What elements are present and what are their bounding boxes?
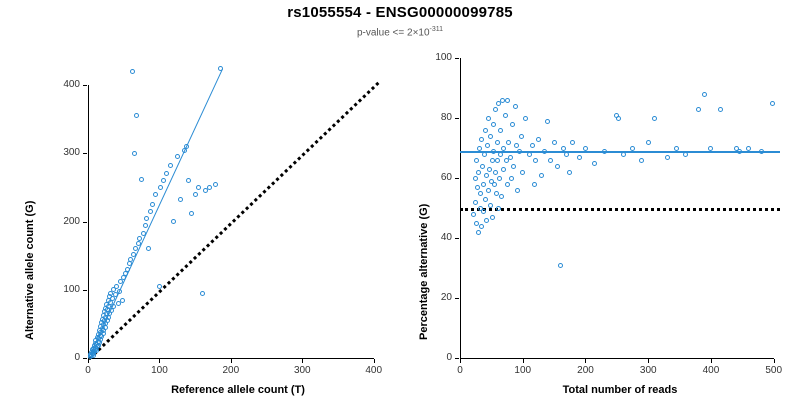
- data-point: [501, 146, 506, 151]
- y-tick: [455, 58, 459, 59]
- data-point: [602, 149, 607, 154]
- data-point: [483, 128, 488, 133]
- x-tick-label: 500: [754, 365, 794, 376]
- y-tick-label: 80: [412, 112, 452, 123]
- data-point: [759, 149, 764, 154]
- data-point: [532, 182, 537, 187]
- y-tick: [83, 153, 87, 154]
- data-point: [561, 146, 566, 151]
- x-tick-label: 300: [628, 365, 668, 376]
- page-title: rs1055554 - ENSG00000099785: [0, 4, 800, 21]
- y-tick: [83, 85, 87, 86]
- data-point: [501, 167, 506, 172]
- data-point: [484, 173, 489, 178]
- data-point: [130, 69, 135, 74]
- data-point: [139, 177, 144, 182]
- data-point: [523, 116, 528, 121]
- data-point: [476, 230, 481, 235]
- data-point: [471, 212, 476, 217]
- data-point: [646, 140, 651, 145]
- data-point: [125, 267, 130, 272]
- data-point: [486, 188, 491, 193]
- left-yaxis-title: Alternative allele count (G): [24, 201, 36, 340]
- data-point: [487, 167, 492, 172]
- right-scatter-panel: Total number of reads Percentage alterna…: [400, 40, 800, 400]
- data-point: [117, 289, 122, 294]
- data-point: [702, 92, 707, 97]
- y-tick-label: 0: [412, 352, 452, 363]
- data-point: [545, 119, 550, 124]
- left-scatter-panel: Reference allele count (T) Alternative a…: [0, 40, 400, 400]
- y-tick-label: 400: [40, 79, 80, 90]
- data-point: [189, 211, 194, 216]
- x-tick-label: 300: [282, 365, 322, 376]
- data-point: [207, 185, 212, 190]
- fit-line: [460, 151, 780, 153]
- chart-root: rs1055554 - ENSG00000099785 p-value <= 2…: [0, 0, 800, 400]
- data-point: [496, 206, 501, 211]
- data-point: [558, 263, 563, 268]
- data-point: [498, 128, 503, 133]
- data-point: [481, 209, 486, 214]
- data-point: [477, 146, 482, 151]
- data-point: [480, 164, 485, 169]
- x-tick-label: 200: [565, 365, 605, 376]
- reference-line: [460, 208, 780, 211]
- data-point: [509, 176, 514, 181]
- data-point: [495, 140, 500, 145]
- data-point: [683, 152, 688, 157]
- data-point: [488, 134, 493, 139]
- y-tick-label: 20: [412, 292, 452, 303]
- right-xaxis-title: Total number of reads: [460, 384, 780, 396]
- data-point: [503, 113, 508, 118]
- data-point: [577, 155, 582, 160]
- data-point: [746, 146, 751, 151]
- data-point: [475, 185, 480, 190]
- data-point: [485, 143, 490, 148]
- data-point: [674, 146, 679, 151]
- data-point: [493, 170, 498, 175]
- data-point: [499, 194, 504, 199]
- data-point: [478, 191, 483, 196]
- data-point: [136, 241, 141, 246]
- x-tick: [585, 359, 586, 363]
- data-point: [539, 173, 544, 178]
- data-point: [132, 151, 137, 156]
- data-point: [665, 155, 670, 160]
- x-axis-line: [460, 358, 774, 359]
- data-point: [490, 215, 495, 220]
- data-point: [493, 107, 498, 112]
- y-tick: [83, 290, 87, 291]
- x-tick-label: 0: [440, 365, 480, 376]
- data-point: [564, 152, 569, 157]
- data-point: [505, 182, 510, 187]
- x-tick: [460, 359, 461, 363]
- x-tick: [159, 359, 160, 363]
- y-axis-line: [88, 85, 89, 358]
- subtitle-exponent: -311: [430, 26, 444, 33]
- data-point: [536, 137, 541, 142]
- data-point: [483, 197, 488, 202]
- data-point: [486, 116, 491, 121]
- data-point: [474, 221, 479, 226]
- data-point: [514, 143, 519, 148]
- left-plot-area: [88, 58, 388, 358]
- data-point: [770, 101, 775, 106]
- left-xaxis-title: Reference allele count (T): [88, 384, 388, 396]
- x-tick: [523, 359, 524, 363]
- data-point: [621, 152, 626, 157]
- y-tick: [455, 298, 459, 299]
- data-point: [473, 200, 478, 205]
- data-point: [513, 104, 518, 109]
- y-tick-label: 40: [412, 232, 452, 243]
- data-point: [498, 152, 503, 157]
- data-point: [552, 140, 557, 145]
- data-point: [481, 182, 486, 187]
- x-tick: [648, 359, 649, 363]
- data-point: [161, 178, 166, 183]
- data-point: [555, 164, 560, 169]
- x-tick: [774, 359, 775, 363]
- data-point: [491, 122, 496, 127]
- data-point: [495, 158, 500, 163]
- data-point: [737, 149, 742, 154]
- x-tick: [302, 359, 303, 363]
- y-tick-label: 60: [412, 172, 452, 183]
- x-tick-label: 0: [68, 365, 108, 376]
- data-point: [120, 298, 125, 303]
- data-point: [696, 107, 701, 112]
- data-point: [533, 158, 538, 163]
- data-point: [508, 155, 513, 160]
- data-point: [517, 149, 522, 154]
- data-point: [520, 170, 525, 175]
- x-tick-label: 100: [503, 365, 543, 376]
- data-point: [567, 170, 572, 175]
- data-point: [527, 152, 532, 157]
- data-point: [488, 203, 493, 208]
- data-point: [515, 188, 520, 193]
- y-tick-label: 200: [40, 216, 80, 227]
- data-point: [193, 192, 198, 197]
- x-tick: [711, 359, 712, 363]
- data-point: [530, 143, 535, 148]
- data-point: [497, 176, 502, 181]
- y-tick: [455, 178, 459, 179]
- data-point: [143, 223, 148, 228]
- x-tick-label: 100: [139, 365, 179, 376]
- data-point: [491, 149, 496, 154]
- y-tick: [83, 222, 87, 223]
- data-point: [476, 170, 481, 175]
- data-point: [592, 161, 597, 166]
- data-point: [616, 116, 621, 121]
- x-tick-label: 200: [211, 365, 251, 376]
- data-point: [200, 291, 205, 296]
- data-point: [490, 158, 495, 163]
- data-point: [505, 98, 510, 103]
- data-point: [482, 152, 487, 157]
- data-point: [213, 182, 218, 187]
- data-point: [144, 216, 149, 221]
- y-tick-label: 100: [412, 52, 452, 63]
- y-tick-label: 100: [40, 284, 80, 295]
- y-tick: [83, 358, 87, 359]
- data-point: [157, 284, 162, 289]
- y-tick: [455, 358, 459, 359]
- subtitle-text: p-value <= 2×10: [357, 27, 430, 38]
- data-point: [542, 149, 547, 154]
- data-point: [583, 146, 588, 151]
- y-tick-label: 300: [40, 147, 80, 158]
- data-point: [150, 202, 155, 207]
- data-point: [652, 116, 657, 121]
- page-subtitle: p-value <= 2×10-311: [0, 26, 800, 38]
- data-point: [630, 146, 635, 151]
- y-tick-label: 0: [40, 352, 80, 363]
- data-point: [168, 163, 173, 168]
- data-point: [718, 107, 723, 112]
- x-tick-label: 400: [354, 365, 394, 376]
- x-tick: [374, 359, 375, 363]
- x-tick: [231, 359, 232, 363]
- data-point: [473, 176, 478, 181]
- right-yaxis-title: Percentage alternative (G): [418, 204, 430, 340]
- y-tick: [455, 238, 459, 239]
- data-point: [492, 182, 497, 187]
- data-point: [186, 178, 191, 183]
- data-point: [479, 137, 484, 142]
- y-tick: [455, 118, 459, 119]
- x-tick-label: 400: [691, 365, 731, 376]
- data-point: [510, 122, 515, 127]
- data-point: [519, 134, 524, 139]
